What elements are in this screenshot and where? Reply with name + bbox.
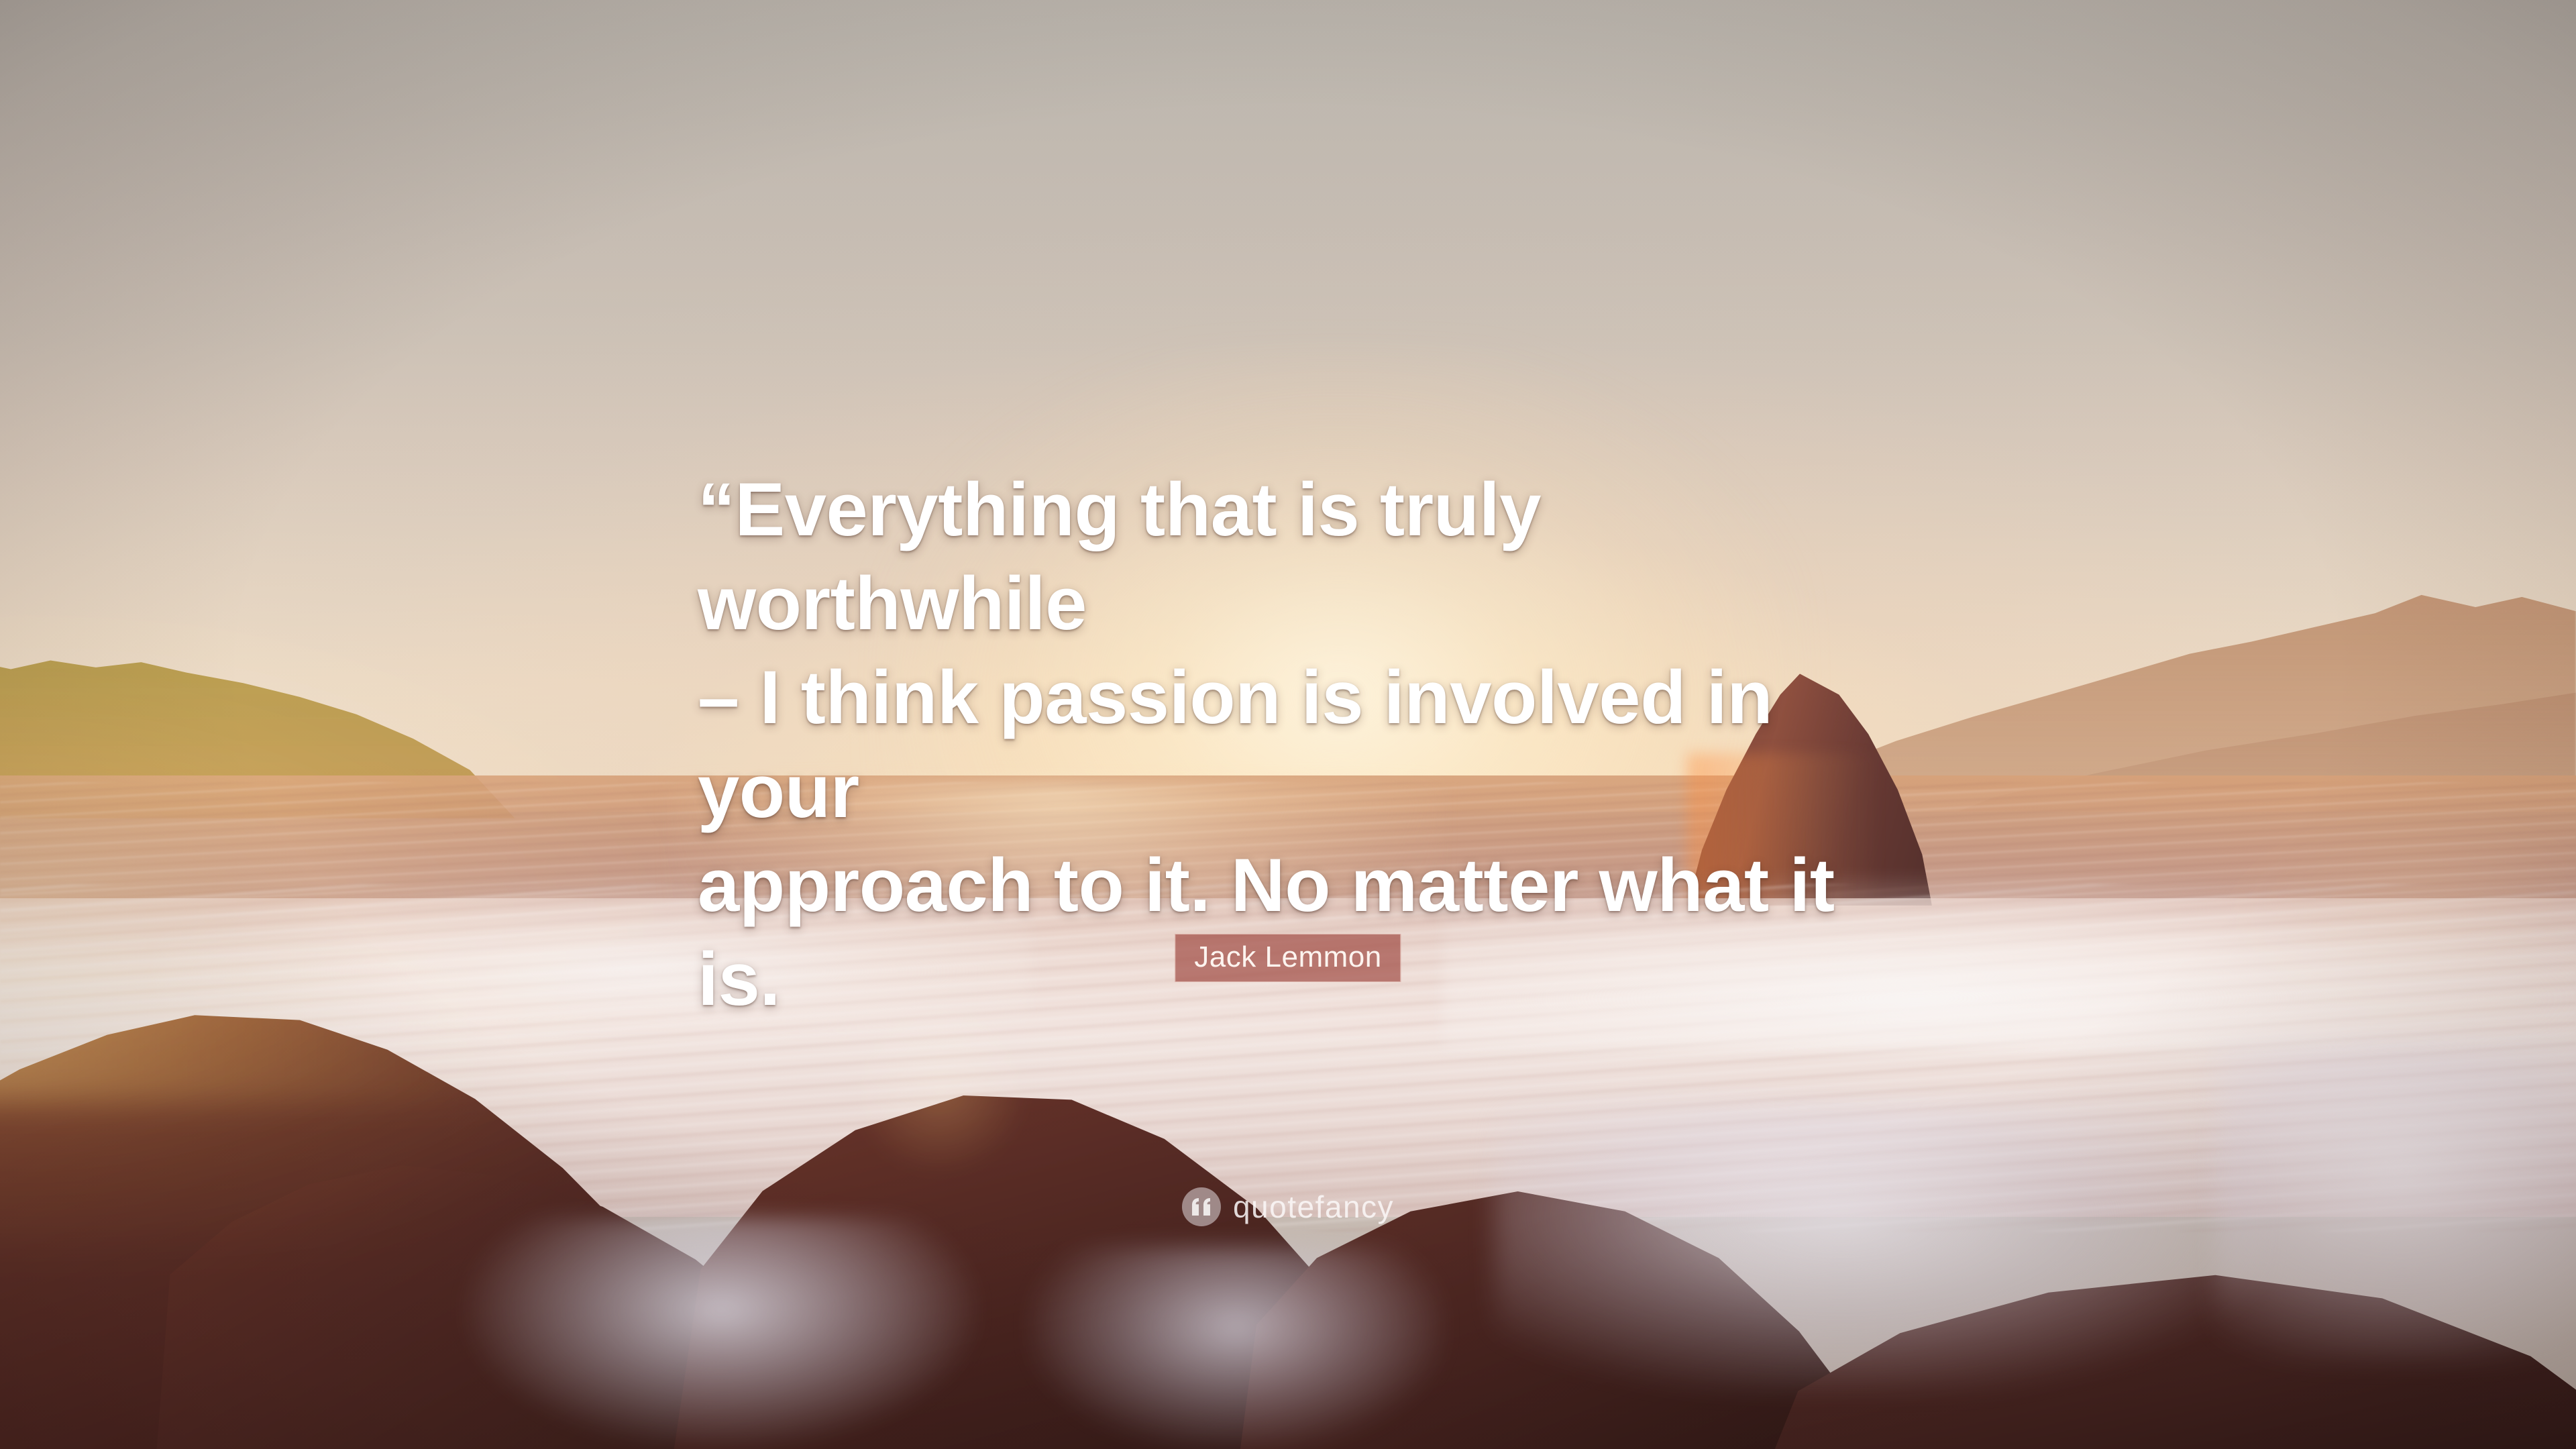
watermark[interactable]: quotefancy <box>1182 1187 1394 1226</box>
author-badge[interactable]: Jack Lemmon <box>1175 934 1401 982</box>
text-overlay: “Everything that is truly worthwhile – I… <box>0 0 2576 1449</box>
author-attribution: Jack Lemmon <box>1175 934 1401 982</box>
watermark-brand: quotefancy <box>1233 1191 1394 1222</box>
quote-poster: “Everything that is truly worthwhile – I… <box>0 0 2576 1449</box>
double-quote-icon <box>1182 1187 1221 1226</box>
